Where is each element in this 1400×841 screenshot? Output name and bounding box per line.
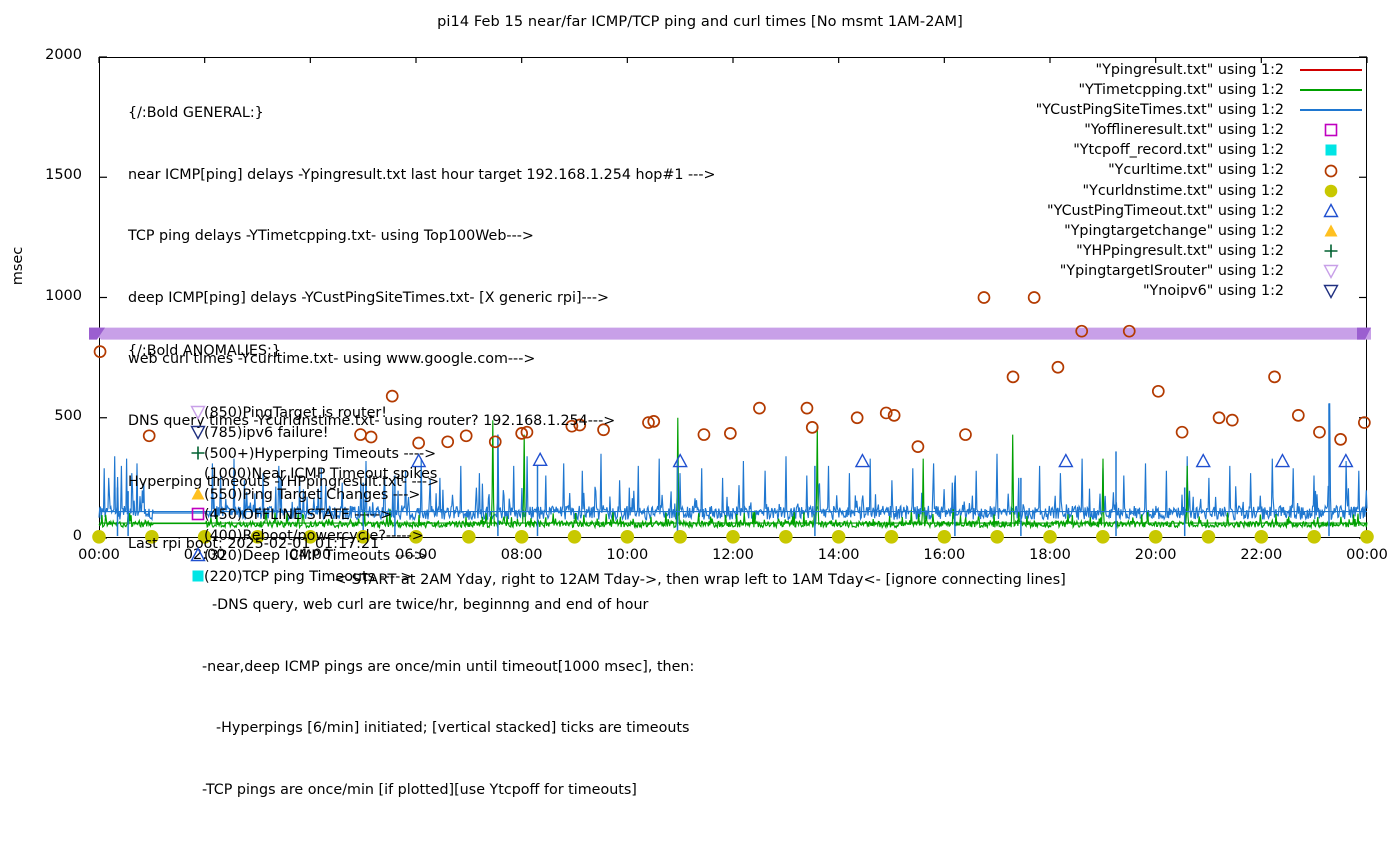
anomaly-row: (550)Ping Target Changes --->	[128, 485, 437, 506]
legend-key	[1292, 281, 1370, 301]
legend-label: "YHPpingresult.txt" using 1:2	[1076, 241, 1284, 261]
anomaly-row: (500+)Hyperping Timeouts ---->	[128, 444, 437, 465]
anomaly-row: (450)OFFLINE STATE ----->	[128, 505, 437, 526]
legend-key	[1292, 120, 1370, 140]
general-note-3: -TCP pings are once/min [if plotted][use…	[128, 780, 715, 801]
legend-square-open-icon	[1321, 121, 1341, 139]
legend-tri-down-open-icon	[1321, 262, 1341, 280]
general-heading: {/:Bold GENERAL:}	[128, 103, 715, 124]
legend-line-swatch	[1300, 109, 1362, 111]
legend-circle-open-icon	[1321, 162, 1341, 180]
legend-key	[1292, 241, 1370, 261]
x-tick-label: 18:00	[1010, 547, 1090, 563]
legend-item: "Ycurldnstime.txt" using 1:2	[960, 181, 1370, 201]
legend-tri-up-filled-icon	[1321, 222, 1341, 240]
legend-item: "YCustPingSiteTimes.txt" using 1:2	[960, 100, 1370, 120]
legend-label: "YCustPingSiteTimes.txt" using 1:2	[1036, 100, 1284, 120]
legend-item: "YTimetcpping.txt" using 1:2	[960, 80, 1370, 100]
anomalies-heading: {/:Bold ANOMALIES:}	[128, 341, 437, 362]
general-line-1: TCP ping delays -YTimetcpping.txt- using…	[128, 226, 715, 247]
general-note-2: -Hyperpings [6/min] initiated; [vertical…	[128, 718, 715, 739]
anomaly-label: (850)PingTarget is router!	[204, 405, 387, 421]
legend-item: "YCustPingTimeout.txt" using 1:2	[960, 201, 1370, 221]
legend-item: "Ytcpoff_record.txt" using 1:2	[960, 140, 1370, 160]
legend-key	[1292, 201, 1370, 221]
legend-label: "YCustPingTimeout.txt" using 1:2	[1047, 201, 1284, 221]
legend-item: "Ycurltime.txt" using 1:2	[960, 160, 1370, 180]
general-note-1: -near,deep ICMP pings are once/min until…	[128, 657, 715, 678]
legend-label: "Ycurldnstime.txt" using 1:2	[1083, 181, 1284, 201]
x-tick-label: 22:00	[1221, 547, 1301, 563]
legend-label: "Ynoipv6" using 1:2	[1143, 281, 1284, 301]
x-tick-label: 20:00	[1116, 547, 1196, 563]
chart-page: pi14 Feb 15 near/far ICMP/TCP ping and c…	[0, 0, 1400, 600]
plus-green-icon	[190, 445, 206, 461]
tri-up-open-blue-icon	[190, 547, 206, 563]
y-tick-label: 500	[22, 408, 82, 424]
legend-item: "Ypingresult.txt" using 1:2	[960, 60, 1370, 80]
page-title: pi14 Feb 15 near/far ICMP/TCP ping and c…	[0, 14, 1400, 30]
legend: "Ypingresult.txt" using 1:2"YTimetcpping…	[960, 60, 1370, 301]
tri-down-open-purple-icon	[190, 404, 206, 420]
legend-key	[1292, 221, 1370, 241]
legend-key	[1292, 60, 1370, 80]
legend-key	[1292, 140, 1370, 160]
x-tick-label: 14:00	[799, 547, 879, 563]
x-tick-label: 16:00	[904, 547, 984, 563]
legend-label: "Ypingtargetchange" using 1:2	[1064, 221, 1284, 241]
legend-tri-down-open-navy-icon	[1321, 282, 1341, 300]
square-open-magenta-icon	[190, 506, 206, 522]
legend-key	[1292, 161, 1370, 181]
legend-key	[1292, 181, 1370, 201]
anomaly-label: (450)OFFLINE STATE ----->	[204, 507, 392, 523]
anomaly-row: (850)PingTarget is router!	[128, 403, 437, 424]
legend-label: "Ypingresult.txt" using 1:2	[1096, 60, 1284, 80]
legend-key	[1292, 100, 1370, 120]
x-tick-label: 00:00	[59, 547, 139, 563]
legend-key	[1292, 261, 1370, 281]
legend-circle-filled-icon	[1321, 182, 1341, 200]
anomaly-label: (785)ipv6 failure!	[204, 425, 328, 441]
anomaly-row: (1000)Near ICMP Timeout spikes	[128, 464, 437, 485]
y-tick-label: 2000	[22, 47, 82, 63]
anomaly-label: (550)Ping Target Changes --->	[204, 487, 420, 503]
legend-square-filled-icon	[1321, 141, 1341, 159]
x-tick-label: 00:00	[1327, 547, 1400, 563]
legend-key	[1292, 80, 1370, 100]
legend-label: "Yofflineresult.txt" using 1:2	[1084, 120, 1284, 140]
tri-up-filled-orange-icon	[190, 486, 206, 502]
legend-tri-up-open-icon	[1321, 202, 1341, 220]
anomaly-row: (320)Deep ICMP Timeouts ---->	[128, 546, 437, 567]
anomaly-label: (400)Reboot/powercycle?----->	[204, 528, 424, 544]
anomaly-label: (320)Deep ICMP Timeouts ---->	[204, 548, 427, 564]
legend-item: "Ypingtargetchange" using 1:2	[960, 221, 1370, 241]
anomalies-rows: (850)PingTarget is router!(785)ipv6 fail…	[128, 403, 437, 588]
legend-label: "Ycurltime.txt" using 1:2	[1108, 160, 1284, 180]
y-tick-label: 1500	[22, 167, 82, 183]
anomaly-row: (785)ipv6 failure!	[128, 423, 437, 444]
anomaly-row: (400)Reboot/powercycle?----->	[128, 526, 437, 547]
legend-item: "YHPpingresult.txt" using 1:2	[960, 241, 1370, 261]
legend-line-swatch	[1300, 69, 1362, 71]
x-axis-caption: <-START at 2AM Yday, right to 12AM Tday-…	[0, 572, 1400, 588]
legend-plus-icon	[1321, 242, 1341, 260]
general-line-0: near ICMP[ping] delays -Ypingresult.txt …	[128, 165, 715, 186]
legend-label: "YpingtargetISrouter" using 1:2	[1060, 261, 1284, 281]
y-tick-label: 1000	[22, 288, 82, 304]
anomaly-label: (1000)Near ICMP Timeout spikes	[204, 466, 437, 482]
tri-down-open-navy-icon	[190, 424, 206, 440]
legend-line-swatch	[1300, 89, 1362, 91]
legend-item: "Yofflineresult.txt" using 1:2	[960, 120, 1370, 140]
legend-item: "Ynoipv6" using 1:2	[960, 281, 1370, 301]
legend-label: "YTimetcpping.txt" using 1:2	[1078, 80, 1284, 100]
legend-item: "YpingtargetISrouter" using 1:2	[960, 261, 1370, 281]
anomaly-label: (500+)Hyperping Timeouts ---->	[204, 446, 436, 462]
y-tick-label: 0	[22, 528, 82, 544]
legend-label: "Ytcpoff_record.txt" using 1:2	[1073, 140, 1284, 160]
